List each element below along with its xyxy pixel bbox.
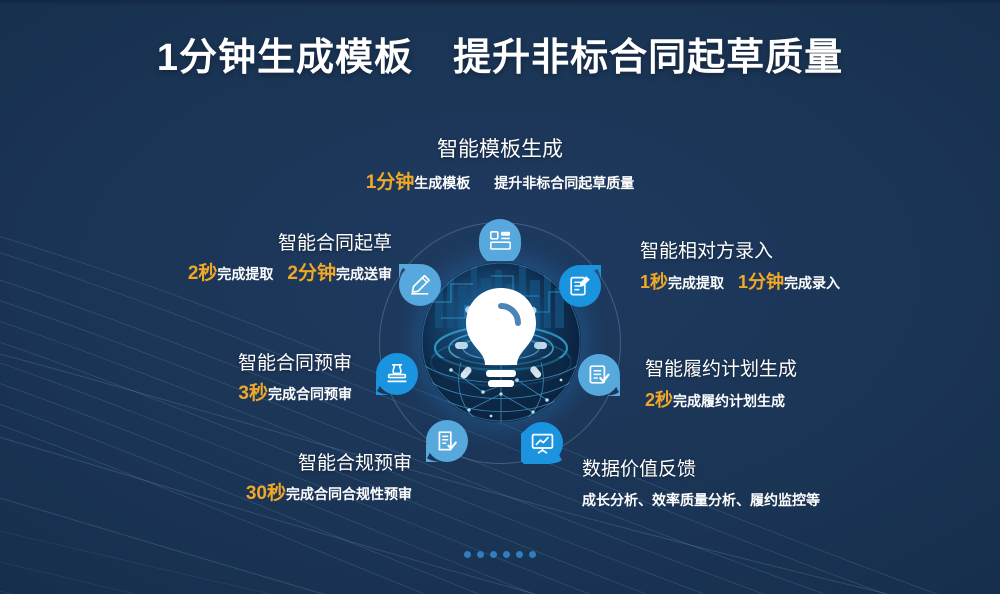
label-data-value-feedback: 数据价值反馈 成长分析、效率质量分析、履约监控等 — [582, 458, 820, 509]
label-template-generation: 智能模板生成 1分钟生成模板提升非标合同起草质量 — [0, 138, 1000, 192]
slide-canvas: 1分钟生成模板提升非标合同起草质量 — [0, 0, 1000, 594]
template-layout-icon — [490, 231, 511, 250]
metric-number: 1分钟 — [366, 172, 415, 193]
metric-text: 完成合同合规性预审 — [286, 486, 412, 502]
label-metrics: 30秒完成合同合规性预审 — [0, 485, 412, 503]
metric-number-2: 2分钟 — [287, 263, 336, 284]
top-edge-strip — [0, 0, 1000, 5]
badge-performance-plan[interactable] — [578, 354, 620, 396]
document-check-icon — [588, 364, 610, 386]
label-contract-prereview: 智能合同预审 3秒完成合同预审 — [0, 352, 352, 403]
label-metrics: 2秒完成提取2分钟完成送审 — [0, 265, 392, 283]
metric-number: 2秒 — [188, 263, 218, 284]
label-heading: 智能模板生成 — [0, 138, 1000, 162]
label-heading: 智能合同预审 — [0, 352, 352, 376]
label-counterparty-entry: 智能相对方录入 1秒完成提取1分钟完成录入 — [640, 240, 840, 292]
tech-globe — [421, 262, 581, 422]
badge-compliance-prereview[interactable] — [426, 420, 468, 462]
metric-text: 成长分析、效率质量分析、履约监控等 — [582, 492, 820, 508]
metric-number: 3秒 — [238, 383, 268, 404]
label-performance-plan: 智能履约计划生成 2秒完成履约计划生成 — [645, 358, 797, 410]
pagination-dots — [0, 545, 1000, 563]
center-diagram — [379, 222, 621, 464]
document-lines-check-icon — [437, 430, 458, 452]
badge-contract-drafting[interactable] — [399, 264, 441, 306]
metric-text: 完成合同预审 — [268, 386, 352, 402]
pencil-edit-icon — [409, 274, 431, 296]
label-metrics: 1秒完成提取1分钟完成录入 — [640, 273, 840, 292]
pagination-dot[interactable] — [503, 551, 510, 558]
pagination-dot[interactable] — [490, 551, 497, 558]
label-heading: 智能相对方录入 — [640, 240, 840, 264]
page-title-part2: 提升非标合同起草质量 — [453, 37, 843, 79]
metric-number: 1秒 — [640, 272, 668, 292]
page-title: 1分钟生成模板提升非标合同起草质量 — [0, 36, 1000, 80]
label-metrics: 3秒完成合同预审 — [0, 385, 352, 403]
metric-number: 30秒 — [246, 483, 286, 504]
badge-contract-prereview[interactable] — [376, 353, 418, 395]
metric-text-2: 完成送审 — [336, 266, 392, 282]
page-title-part1: 1分钟生成模板 — [157, 37, 413, 79]
lightbulb-idea-icon — [459, 284, 543, 394]
label-compliance-prereview: 智能合规预审 30秒完成合同合规性预审 — [0, 452, 412, 503]
badge-template-generation[interactable] — [479, 219, 521, 261]
label-metrics: 2秒完成履约计划生成 — [645, 391, 797, 410]
label-metrics: 1分钟生成模板提升非标合同起草质量 — [0, 174, 1000, 192]
label-heading: 智能合同起草 — [0, 232, 392, 256]
document-pen-icon — [569, 275, 591, 297]
label-heading: 数据价值反馈 — [582, 458, 820, 482]
badge-counterparty-entry[interactable] — [559, 265, 601, 307]
stamp-seal-icon — [386, 364, 408, 384]
metric-number: 2秒 — [645, 390, 673, 410]
metric-text: 完成提取 — [217, 266, 273, 282]
metric-text: 生成模板 — [414, 175, 470, 191]
badge-data-value-feedback[interactable] — [521, 422, 563, 464]
pagination-dot[interactable] — [477, 551, 484, 558]
pagination-dot[interactable] — [464, 551, 471, 558]
label-metrics: 成长分析、效率质量分析、履约监控等 — [582, 491, 820, 509]
metric-number-2: 1分钟 — [738, 272, 784, 292]
label-heading: 智能履约计划生成 — [645, 358, 797, 382]
metric-text-2: 完成录入 — [784, 275, 840, 291]
metric-text: 完成提取 — [668, 275, 724, 291]
pagination-dot[interactable] — [516, 551, 523, 558]
pagination-dot[interactable] — [529, 551, 536, 558]
chart-board-icon — [531, 433, 554, 454]
metric-text: 完成履约计划生成 — [673, 393, 785, 409]
metric-text-2: 提升非标合同起草质量 — [494, 175, 634, 191]
label-contract-drafting: 智能合同起草 2秒完成提取2分钟完成送审 — [0, 232, 392, 283]
label-heading: 智能合规预审 — [0, 452, 412, 476]
